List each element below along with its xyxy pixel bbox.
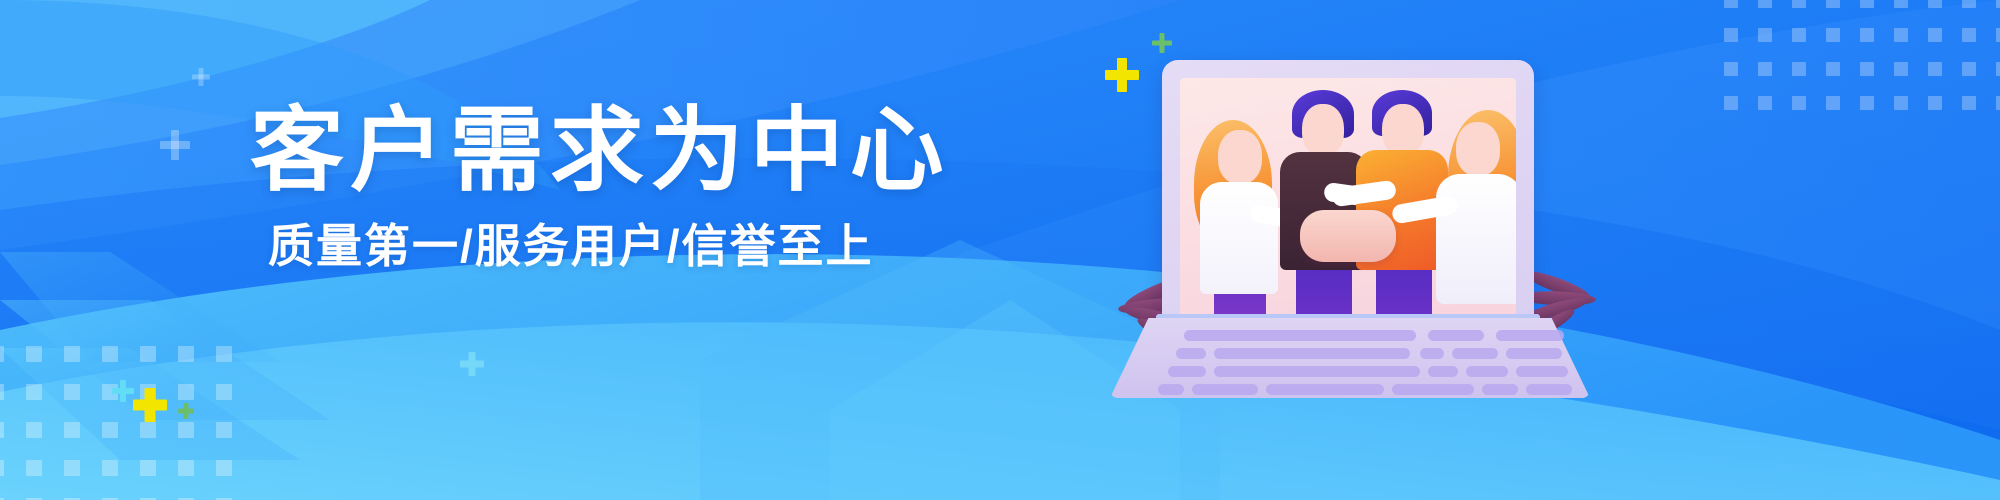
banner-headline: 客户需求为中心	[250, 105, 944, 197]
banner-subtitle: 质量第一/服务用户/信誉至上	[268, 223, 930, 269]
joined-hands	[1300, 210, 1396, 262]
promo-banner: 客户需求为中心 质量第一/服务用户/信誉至上	[0, 0, 2000, 500]
laptop-screen	[1162, 60, 1534, 318]
laptop-keyboard	[1110, 324, 1590, 394]
laptop-teamwork-illustration	[1110, 52, 1590, 452]
laptop-screen-content	[1180, 78, 1516, 318]
banner-copy: 客户需求为中心 质量第一/服务用户/信誉至上	[250, 105, 930, 269]
person-woman-right	[1426, 92, 1516, 318]
